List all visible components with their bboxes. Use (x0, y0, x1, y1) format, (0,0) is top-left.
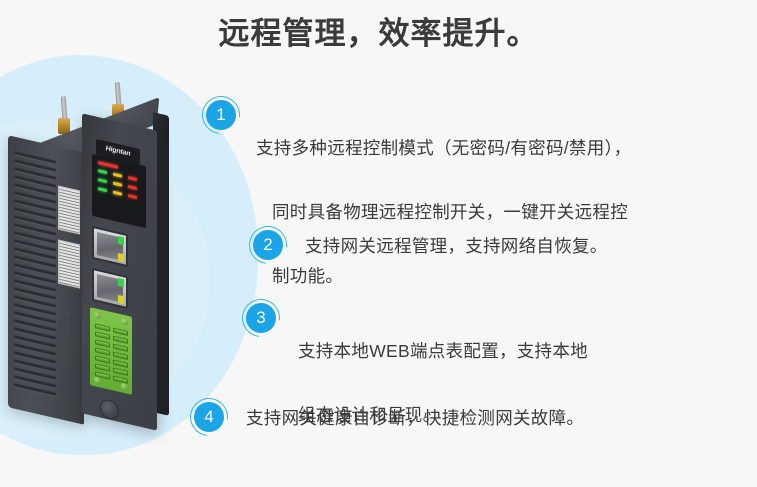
feature-text-2: 支持网关远程管理，支持网络自恢复。 (305, 230, 608, 262)
feature-item-3: 3 支持本地WEB端点表配置，支持本地 组态设计和呈现。 (246, 303, 718, 463)
feature-text-1-line-2: 同时具备物理远程控制开关，一键开关远程控 (256, 196, 736, 228)
feature-text-1-line-3: 制功能。 (256, 260, 736, 292)
feature-badge-4: 4 (194, 402, 224, 432)
feature-text-3: 支持本地WEB端点表配置，支持本地 组态设计和呈现。 (298, 303, 718, 463)
feature-badge-2: 2 (253, 230, 283, 260)
feature-badge-1: 1 (206, 100, 236, 130)
promo-page: 远程管理，效率提升。 ····· ····· ····· (0, 0, 757, 487)
feature-badge-3: 3 (246, 303, 276, 333)
feature-list: 1 支持多种远程控制模式（无密码/有密码/禁用）， 同时具备物理远程控制开关，一… (0, 0, 757, 487)
feature-text-1-line-1: 支持多种远程控制模式（无密码/有密码/禁用）， (256, 132, 736, 164)
feature-item-4: 4 支持网关健康自诊断，快捷检测网关故障。 (194, 402, 584, 434)
feature-text-1: 支持多种远程控制模式（无密码/有密码/禁用）， 同时具备物理远程控制开关，一键开… (256, 100, 736, 324)
feature-text-4: 支持网关健康自诊断，快捷检测网关故障。 (246, 402, 584, 434)
feature-item-2: 2 支持网关远程管理，支持网络自恢复。 (253, 230, 608, 262)
feature-item-1: 1 支持多种远程控制模式（无密码/有密码/禁用）， 同时具备物理远程控制开关，一… (206, 100, 736, 324)
feature-text-3-line-1: 支持本地WEB端点表配置，支持本地 (298, 335, 718, 367)
